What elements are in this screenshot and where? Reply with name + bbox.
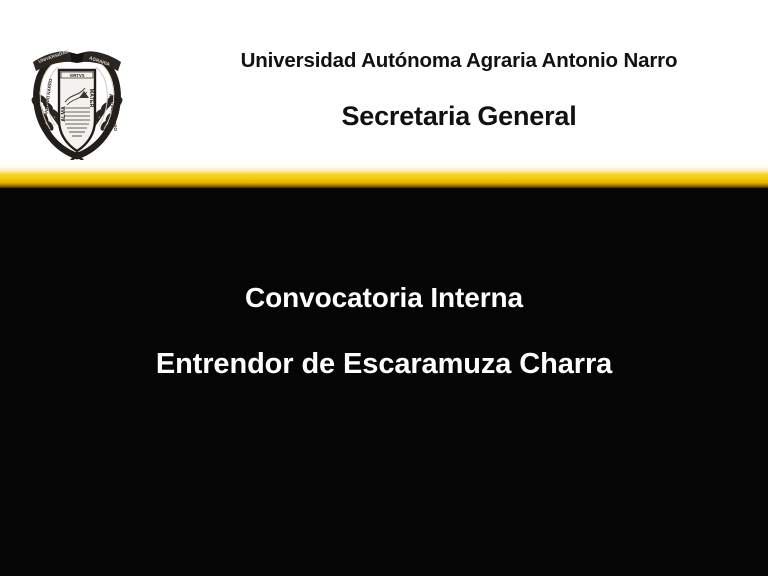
department-name: Secretaria General	[150, 101, 768, 132]
gold-divider-bar	[0, 160, 768, 190]
announcement-title: Convocatoria Interna	[0, 282, 768, 314]
svg-text:VIRTVS: VIRTVS	[69, 73, 84, 78]
svg-text:MATER: MATER	[88, 89, 94, 108]
presentation-slide: UNIVERSIDAD AGRARIA ANTONIO NARRO ANTONI…	[0, 0, 768, 576]
header-content: UNIVERSIDAD AGRARIA ANTONIO NARRO ANTONI…	[0, 0, 768, 174]
university-crest-logo: UNIVERSIDAD AGRARIA ANTONIO NARRO ANTONI…	[17, 36, 137, 170]
announcement-subtitle: Entrendor de Escaramuza Charra	[0, 348, 768, 381]
svg-text:ALMA: ALMA	[61, 106, 67, 122]
shield-icon: VIRTVS ALMA MATER	[59, 70, 95, 151]
slide-header: UNIVERSIDAD AGRARIA ANTONIO NARRO ANTONI…	[0, 0, 768, 174]
university-name: Universidad Autónoma Agraria Antonio Nar…	[150, 49, 768, 73]
slide-body: Convocatoria Interna Entrendor de Escara…	[0, 188, 768, 576]
header-title-block: Universidad Autónoma Agraria Antonio Nar…	[150, 0, 768, 174]
